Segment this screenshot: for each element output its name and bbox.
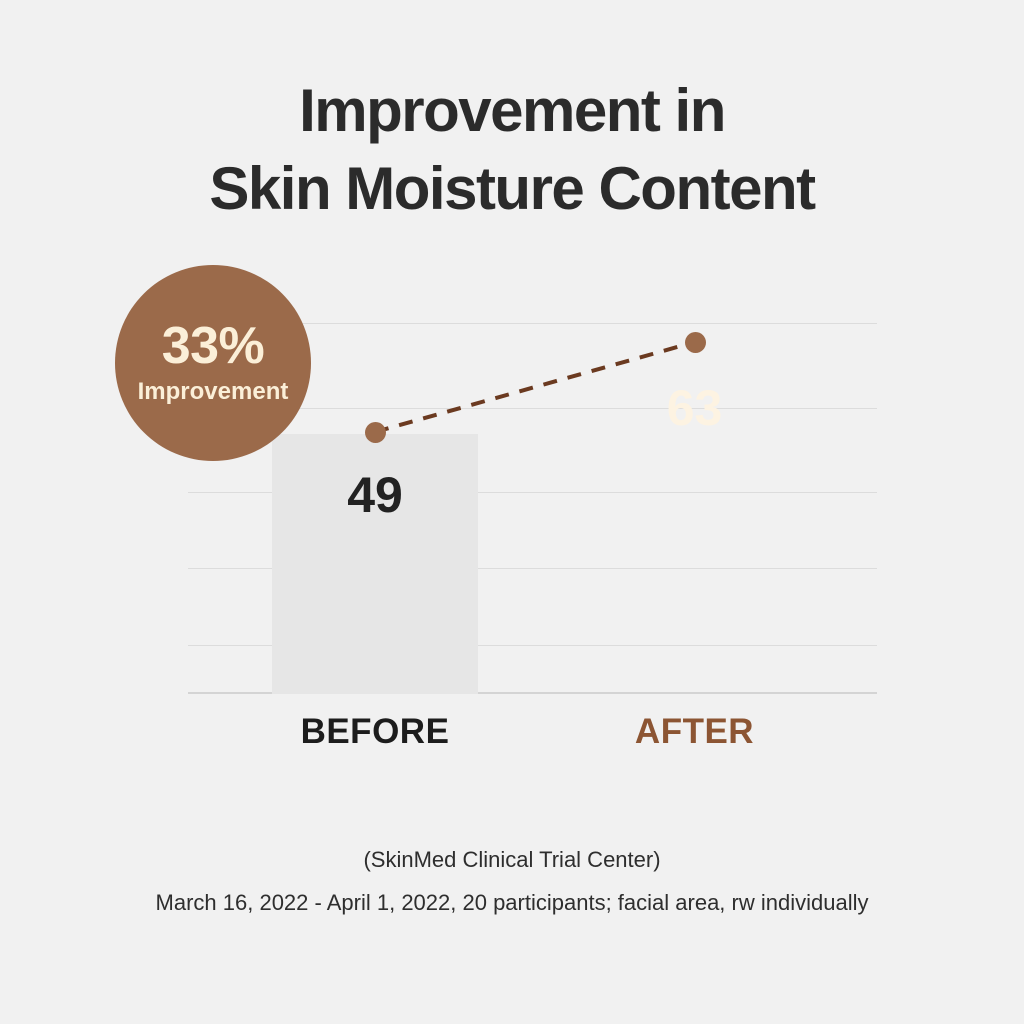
badge-percent-value: 33% xyxy=(162,319,265,373)
infographic-page: Improvement in Skin Moisture Content 49 … xyxy=(0,0,1024,1024)
bar-value-after: 63 xyxy=(587,379,802,437)
title-line-1: Improvement in xyxy=(0,72,1024,150)
improvement-badge: 33% Improvement xyxy=(115,265,311,461)
caption: (SkinMed Clinical Trial Center) March 16… xyxy=(0,838,1024,924)
bar-after[interactable]: 63 xyxy=(587,341,802,694)
bar-before[interactable]: 49 xyxy=(272,434,478,694)
marker-dot-before xyxy=(365,422,386,443)
badge-label: Improvement xyxy=(138,377,289,407)
axis-label-after: AFTER xyxy=(587,712,802,752)
marker-dot-after xyxy=(685,332,706,353)
axis-label-before: BEFORE xyxy=(272,712,478,752)
bar-value-before: 49 xyxy=(272,466,478,524)
caption-source: (SkinMed Clinical Trial Center) xyxy=(0,838,1024,881)
page-title: Improvement in Skin Moisture Content xyxy=(0,72,1024,228)
title-line-2: Skin Moisture Content xyxy=(0,150,1024,228)
caption-details: March 16, 2022 - April 1, 2022, 20 parti… xyxy=(0,881,1024,924)
